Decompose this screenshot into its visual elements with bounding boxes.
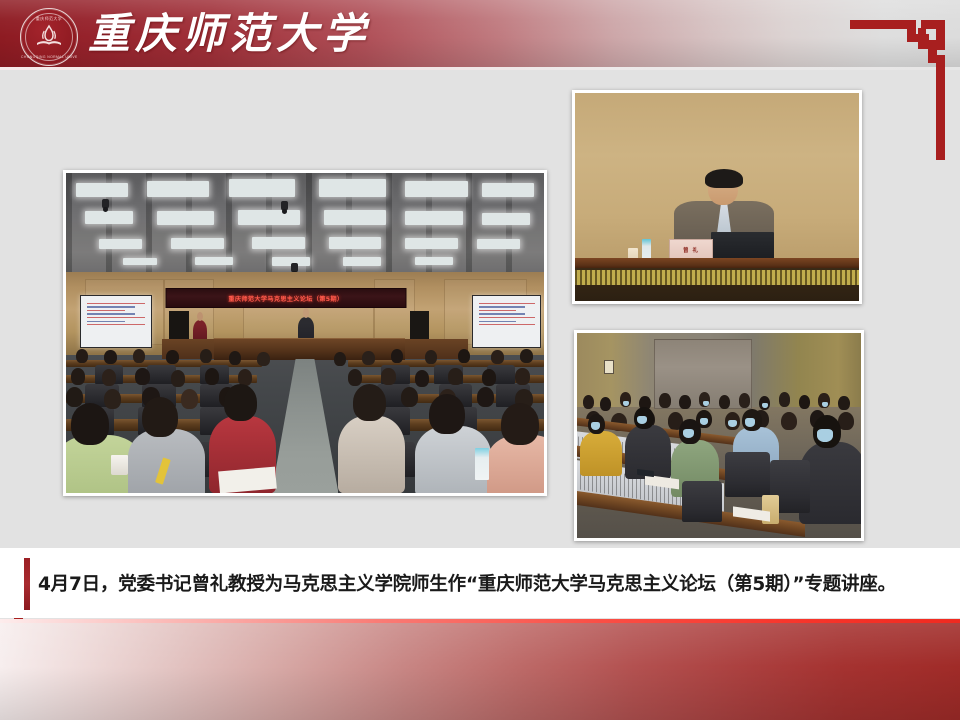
hall-banner: 重庆师范大学马克思主义论坛（第5期） [165, 288, 406, 308]
photo-audience[interactable] [574, 330, 864, 541]
caption-text: 4月7日，党委书记曾礼教授为马克思主义学院师生作“重庆师范大学马克思主义论坛（第… [38, 548, 948, 618]
ceiling-camera-icon [281, 201, 288, 211]
hall-presenter [298, 317, 314, 339]
corner-ornament-top-right-icon [850, 10, 946, 165]
name-placard-text: 曾 礼 [683, 246, 699, 254]
ceiling-camera-icon [291, 263, 298, 273]
header-underline [0, 67, 960, 70]
seal-flame-book-icon [21, 9, 77, 65]
caption-accent-bar [24, 558, 30, 610]
projection-screen-left [80, 295, 151, 348]
photo-speaker[interactable]: 曾 礼 [572, 90, 862, 304]
slide-root: 重庆师范大学 CHONGQING NORMAL UNIVERSITY 重庆师范大… [0, 0, 960, 720]
notebook [218, 467, 277, 493]
page-title: 重庆师范大学 [88, 6, 370, 62]
wall-lamp-icon [604, 360, 615, 374]
bottom-band-shade [0, 623, 960, 720]
laptop [711, 232, 773, 259]
university-seal-icon: 重庆师范大学 CHONGQING NORMAL UNIVERSITY [20, 8, 78, 66]
hall-banner-text: 重庆师范大学马克思主义论坛（第5期） [228, 294, 343, 303]
ceiling-camera-icon [102, 199, 109, 209]
projection-screen-right [472, 295, 541, 348]
photo-lecture-hall[interactable]: 重庆师范大学马克思主义论坛（第5期） [63, 170, 547, 496]
paper-cup [111, 455, 127, 476]
water-bottle [475, 448, 489, 480]
